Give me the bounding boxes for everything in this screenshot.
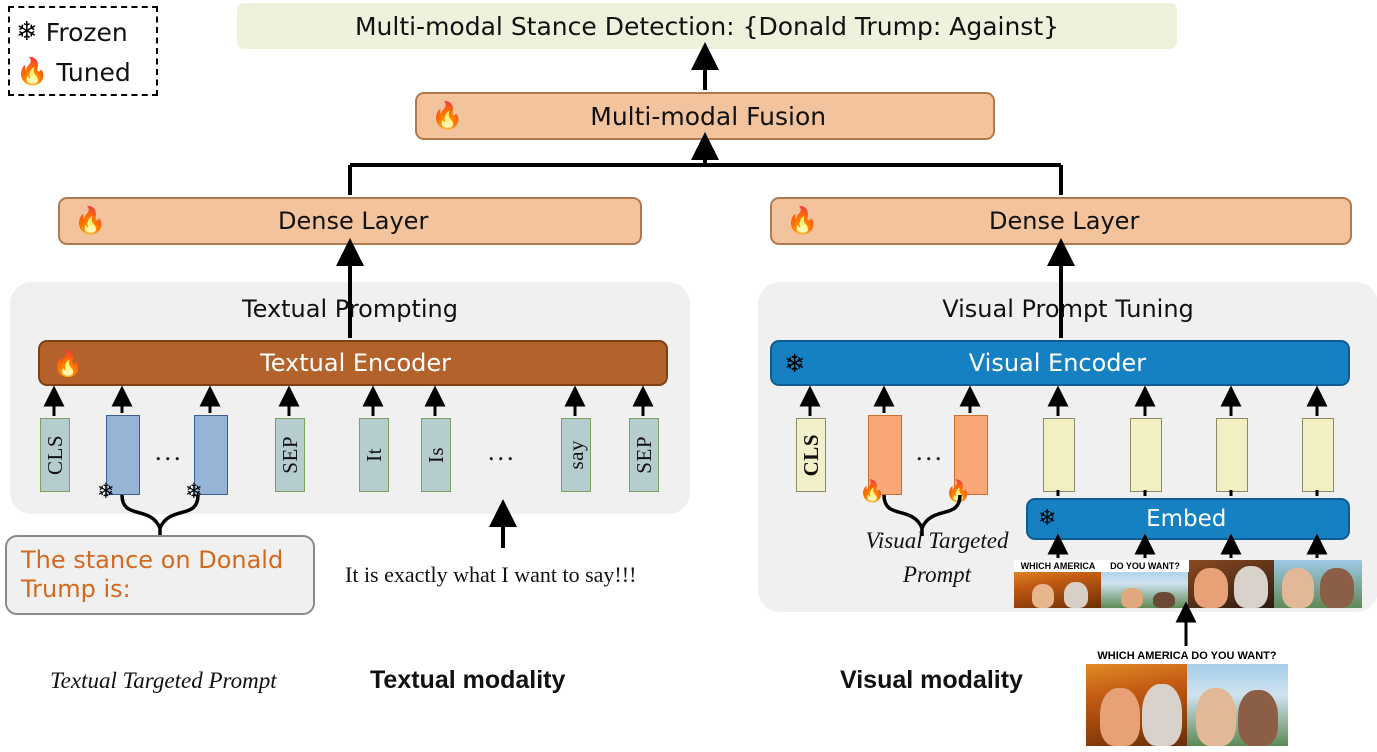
caption-textual-prompt: Textual Targeted Prompt [50, 668, 277, 694]
fire-icon: 🔥 [859, 481, 885, 502]
snowflake-icon: ❄ [185, 481, 203, 502]
token-label: CLS [799, 434, 824, 476]
source-meme-image: WHICH AMERICA DO YOU WANT? [1086, 648, 1288, 746]
textual-targeted-prompt-bubble: The stance on Donald Trump is: [5, 535, 315, 615]
token-label: SEP [632, 436, 657, 474]
caption-visual-prompt-line2: Prompt [862, 562, 1012, 588]
snowflake-icon: ❄ [784, 351, 805, 376]
textual-encoder-block: 🔥 Textual Encoder [38, 340, 668, 386]
caption-visual-modality: Visual modality [840, 666, 1023, 695]
token-patch [1302, 418, 1334, 492]
image-patch: WHICH AMERICA [1014, 560, 1102, 608]
token-cls-visual: CLS [796, 418, 826, 492]
legend-item-tuned: 🔥 Tuned [16, 52, 150, 92]
token-patch [1043, 418, 1075, 492]
ellipsis-prompt-visual: ... [916, 437, 945, 467]
fire-icon: 🔥 [431, 103, 463, 129]
fire-icon: 🔥 [16, 59, 48, 85]
visual-prompt-tuning-title: Visual Prompt Tuning [758, 295, 1377, 323]
fire-icon: 🔥 [74, 208, 106, 234]
dense-layer-visual-label: Dense Layer [818, 207, 1310, 235]
dense-layer-textual: 🔥 Dense Layer [58, 197, 642, 245]
token-label: SEP [278, 436, 303, 474]
token-label: say [564, 440, 589, 470]
token-label: Is [424, 447, 449, 463]
image-patch [1274, 560, 1362, 608]
output-banner: Multi-modal Stance Detection: {Donald Tr… [237, 3, 1177, 49]
legend-item-frozen: ❄ Frozen [16, 12, 150, 52]
textual-prompt-text: The stance on Donald Trump is: [21, 546, 299, 604]
visual-encoder-block: ❄ Visual Encoder [770, 340, 1350, 386]
input-sentence: It is exactly what I want to say!!! [345, 562, 636, 588]
multimodal-fusion-block: 🔥 Multi-modal Fusion [415, 92, 995, 140]
token-prompt-visual: 🔥 [954, 415, 988, 495]
image-patch [1188, 560, 1276, 608]
source-meme-caption: WHICH AMERICA DO YOU WANT? [1086, 648, 1288, 664]
fire-icon: 🔥 [945, 481, 971, 502]
token-label: CLS [43, 435, 68, 475]
visual-encoder-label: Visual Encoder [805, 349, 1310, 377]
image-patch: DO YOU WANT? [1101, 560, 1189, 608]
token-prompt-visual: 🔥 [868, 415, 902, 495]
embed-label: Embed [1056, 506, 1316, 532]
textual-prompting-title: Textual Prompting [10, 295, 690, 323]
dense-layer-visual: 🔥 Dense Layer [770, 197, 1352, 245]
image-patch-caption: DO YOU WANT? [1101, 560, 1189, 572]
ellipsis-words-textual: ... [488, 437, 517, 467]
legend-box: ❄ Frozen 🔥 Tuned [8, 6, 158, 96]
token-word-it: It [359, 418, 389, 492]
fire-icon: 🔥 [52, 351, 83, 376]
token-prompt-textual: ❄ [194, 415, 228, 495]
token-sep-textual: SEP [275, 418, 305, 492]
legend-label-frozen: Frozen [46, 18, 128, 47]
embed-block: ❄ Embed [1026, 498, 1350, 540]
token-sep-textual: SEP [629, 418, 659, 492]
image-patch-caption: WHICH AMERICA [1014, 560, 1102, 572]
token-patch [1216, 418, 1248, 492]
token-patch [1130, 418, 1162, 492]
token-word-say: say [561, 418, 591, 492]
token-prompt-textual: ❄ [106, 415, 140, 495]
output-title: Multi-modal Stance Detection: {Donald Tr… [355, 12, 1059, 41]
ellipsis-prompt-textual: ... [155, 437, 184, 467]
caption-visual-prompt-line1: Visual Targeted [862, 528, 1012, 554]
multimodal-fusion-label: Multi-modal Fusion [463, 102, 953, 131]
caption-textual-modality: Textual modality [370, 666, 565, 695]
token-word-is: Is [421, 418, 451, 492]
textual-encoder-label: Textual Encoder [83, 349, 628, 377]
legend-label-tuned: Tuned [56, 58, 130, 87]
fire-icon: 🔥 [786, 208, 818, 234]
snowflake-icon: ❄ [16, 19, 38, 45]
token-cls-textual: CLS [40, 418, 70, 492]
token-label: It [362, 448, 387, 462]
snowflake-icon: ❄ [1038, 508, 1056, 530]
dense-layer-textual-label: Dense Layer [106, 207, 600, 235]
snowflake-icon: ❄ [97, 481, 115, 502]
